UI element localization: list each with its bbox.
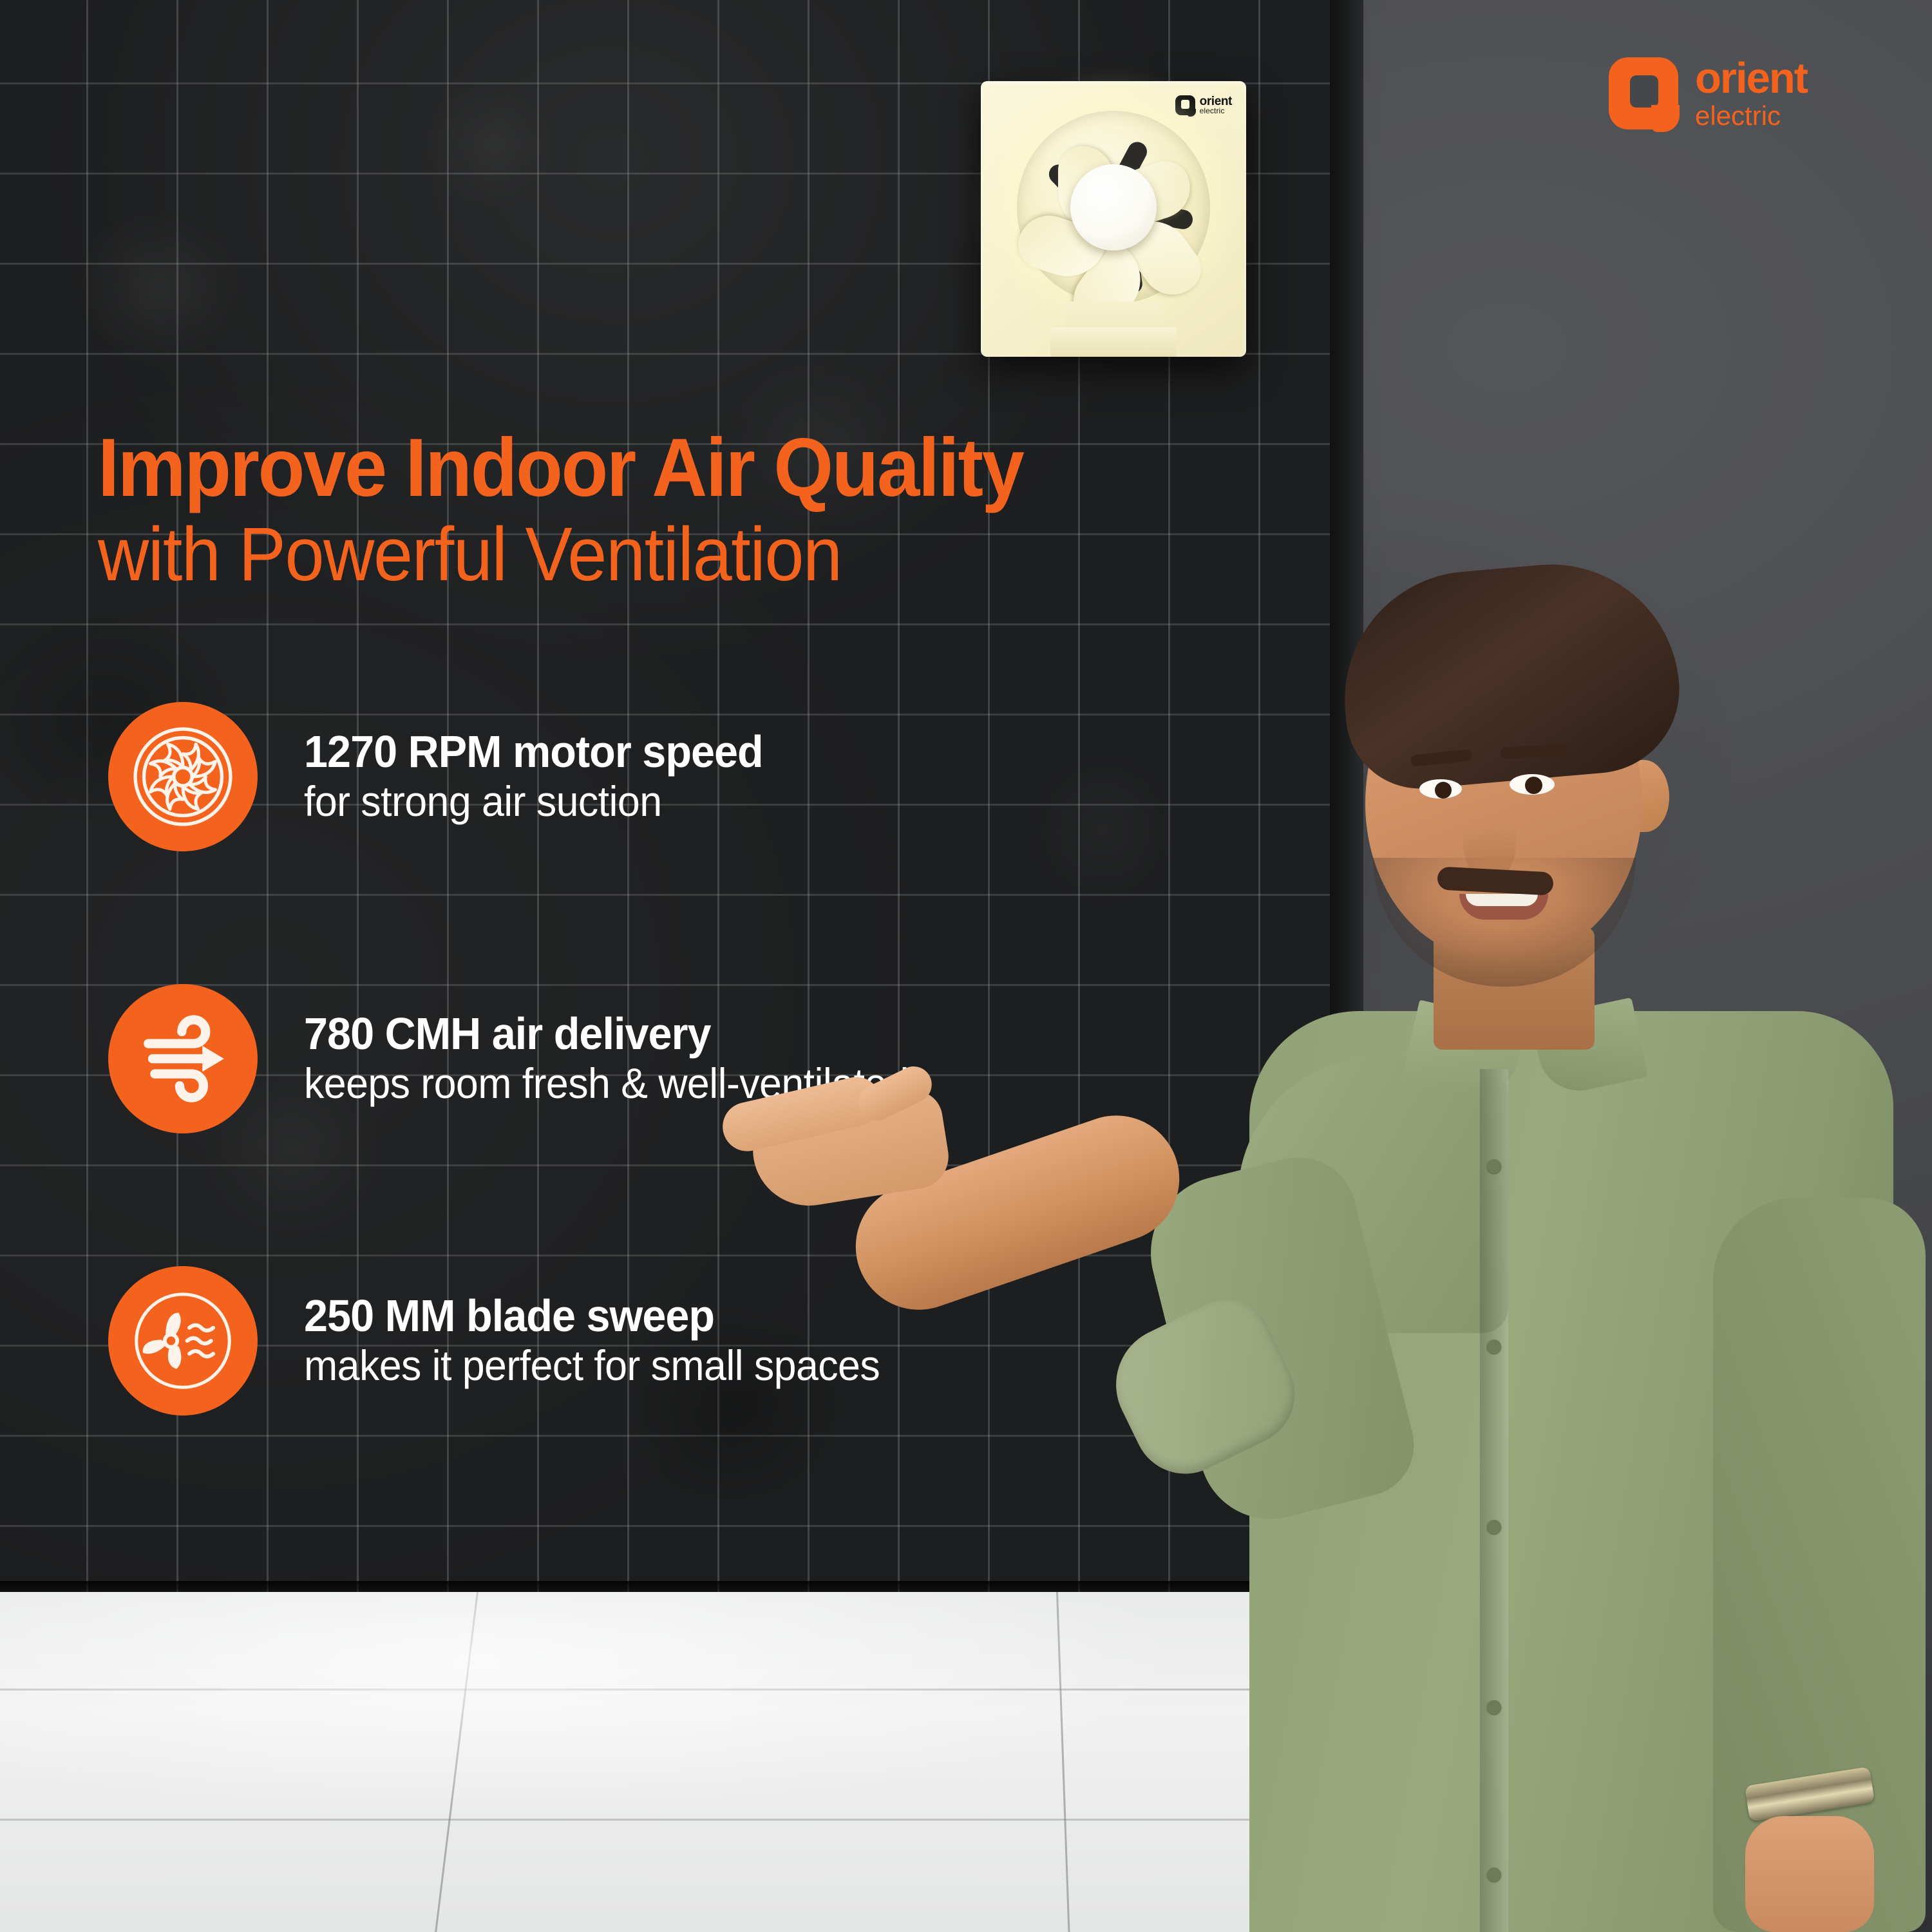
person-pupil-left [1435,782,1452,799]
shirt-placket [1480,1069,1508,1932]
feature-title: 1270 RPM motor speed [304,728,763,775]
orient-q-mark-icon [1175,95,1195,115]
fan-grille [1017,111,1210,304]
advertisement-poster: orient electric orient electric [0,0,1932,1932]
product-brand-tagline: electric [1200,108,1232,115]
fan-hub [1070,164,1157,251]
fan-mount-base [1050,327,1177,357]
brand-name: orient [1695,57,1807,100]
presenter-person [760,567,1932,1932]
shirt-button [1487,1868,1501,1882]
motor-turbine-icon [108,702,258,851]
exhaust-fan-product: orient electric [981,81,1246,357]
shirt-button [1487,1520,1501,1534]
shirt-button [1487,1700,1501,1714]
person-teeth [1466,894,1538,906]
person-hand-right [1745,1816,1874,1932]
brand-tagline: electric [1695,102,1807,129]
person-pupil-right [1525,777,1542,794]
brand-logo: orient electric [1609,57,1807,129]
shirt-button [1487,1159,1501,1173]
headline-line-1: Improve Indoor Air Quality [98,426,1176,511]
product-brand-logo: orient electric [1175,95,1232,115]
floor-grout-line [435,1592,478,1932]
wind-flow-icon [108,984,258,1133]
fan-blade-airflow-icon [108,1266,258,1416]
feature-subtitle: for strong air suction [304,778,763,826]
orient-q-mark-icon [1609,57,1678,129]
shirt-button [1487,1340,1501,1354]
